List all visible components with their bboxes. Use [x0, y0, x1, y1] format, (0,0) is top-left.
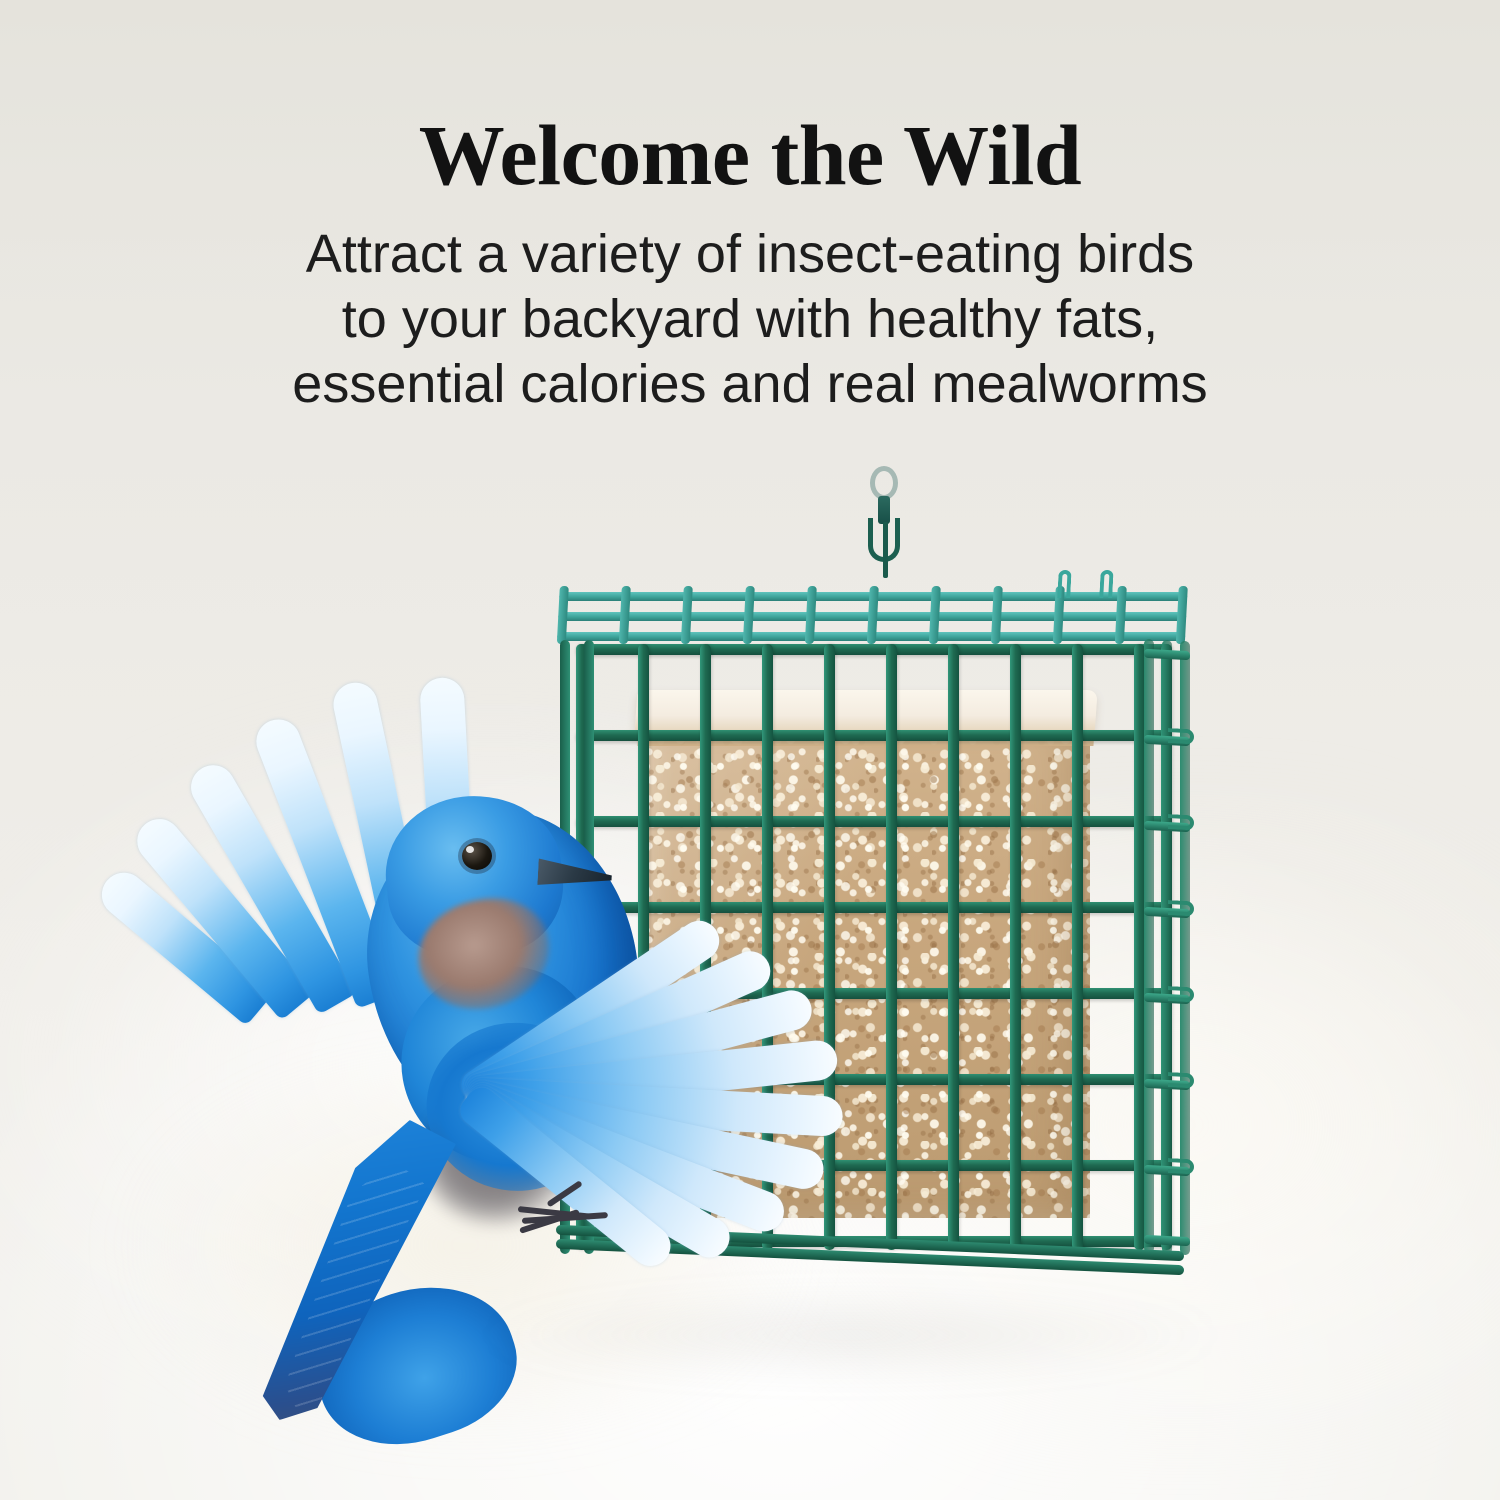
cage-hinge-tab-icon [1168, 814, 1194, 830]
subtitle-line-2: to your backyard with healthy fats, [0, 287, 1500, 352]
product-lifestyle-image: Welcome the Wild Attract a variety of in… [0, 0, 1500, 1500]
cage-hinge-tab-icon [1168, 986, 1194, 1002]
cage-hinge-tab-icon [1168, 1158, 1194, 1174]
page-title: Welcome the Wild [0, 112, 1500, 200]
bird-eye-highlight [466, 846, 474, 853]
hanger-ring-icon [870, 466, 898, 500]
cage-hinge-tab-icon [1168, 728, 1194, 744]
page-subtitle: Attract a variety of insect-eating birds… [0, 222, 1500, 418]
cage-hinge-tab-icon [1168, 1072, 1194, 1088]
subtitle-line-1: Attract a variety of insect-eating birds [0, 222, 1500, 287]
hanger-clip-stem [883, 522, 888, 578]
cage-hinge-tab-icon [1168, 900, 1194, 916]
hanging-hook [856, 466, 916, 606]
subtitle-line-3: essential calories and real mealworms [0, 352, 1500, 417]
soft-shadow [480, 1290, 1220, 1380]
cage-latch-tab-icon [1099, 570, 1113, 598]
bluebird [190, 600, 830, 1400]
bird-foot [518, 1200, 638, 1246]
marketing-copy: Welcome the Wild Attract a variety of in… [0, 112, 1500, 418]
cage-right-side-panel [1144, 639, 1190, 1255]
cage-latch-tab-icon [1057, 570, 1071, 598]
